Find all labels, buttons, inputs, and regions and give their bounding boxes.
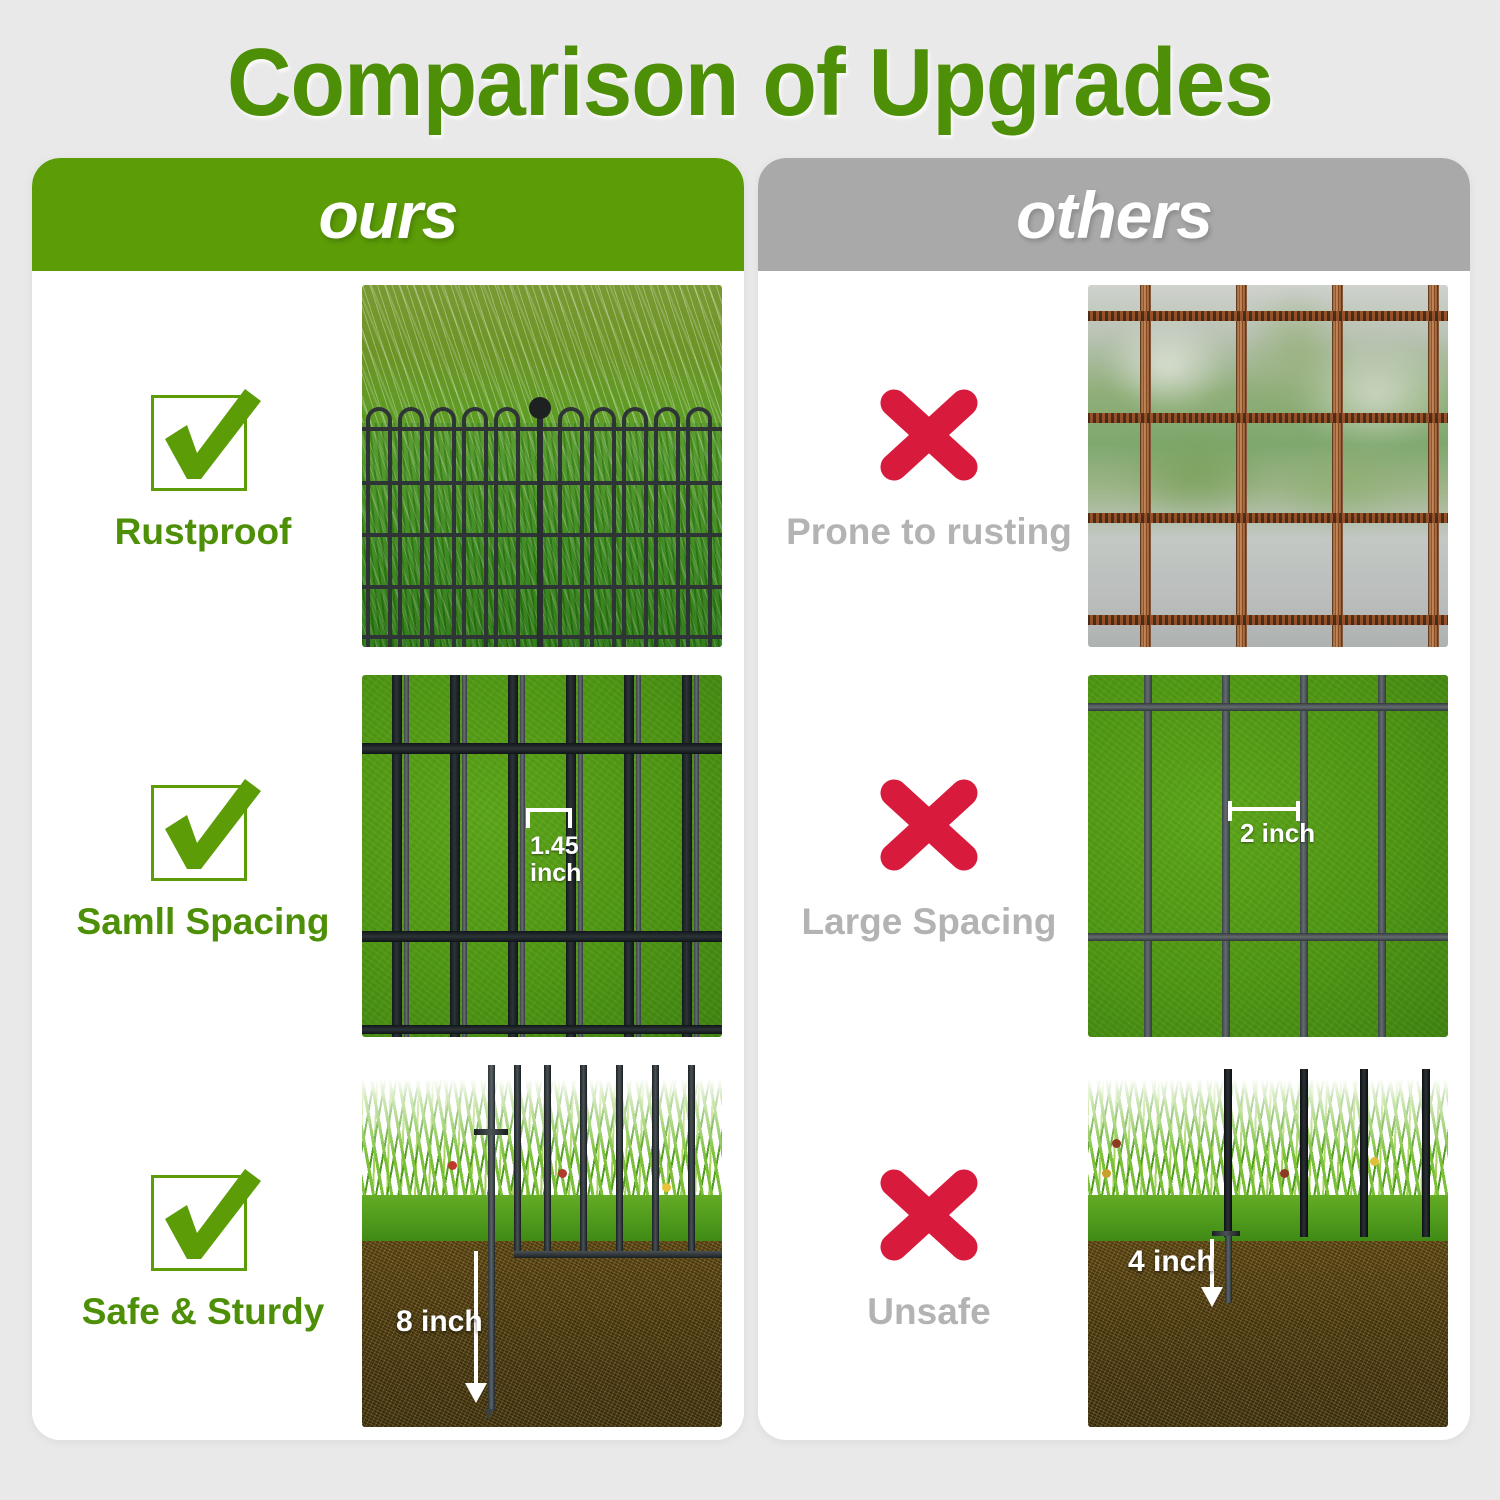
dimension-label-2-inch: 2 inch: [1240, 819, 1315, 847]
ours-label-sturdy: Safe & Sturdy: [82, 1291, 325, 1333]
comparison-infographic: Comparison of Upgrades ours Rustproof: [0, 0, 1500, 1500]
others-feature-spacing: Large Spacing: [770, 769, 1088, 943]
post-ball-icon: [529, 397, 551, 419]
others-label-spacing: Large Spacing: [802, 901, 1057, 943]
ours-row-rustproof: Rustproof: [32, 271, 744, 661]
page-title: Comparison of Upgrades: [53, 28, 1448, 138]
ours-row-spacing: Samll Spacing: [32, 661, 744, 1051]
others-panel: others Prone to rusting: [758, 158, 1470, 1440]
ours-row-sturdy: Safe & Sturdy: [32, 1051, 744, 1440]
rusty-mesh-photo: [1088, 285, 1448, 647]
wide-spacing-fence-photo: 2 inch: [1088, 675, 1448, 1037]
depth-arrow-head: [1201, 1287, 1223, 1307]
shallow-stake-soil-diagram: 4 inch: [1088, 1065, 1448, 1427]
ours-panel-header: ours: [32, 158, 744, 271]
others-label-rusting: Prone to rusting: [786, 511, 1072, 553]
others-panel-body: Prone to rusting: [758, 271, 1470, 1440]
ground-stake: [488, 1065, 495, 1411]
check-icon: [143, 1159, 263, 1271]
fence-post: [537, 417, 543, 647]
others-row-unsafe: Unsafe: [758, 1051, 1470, 1440]
dimension-label-1-45-inch: 1.45 inch: [530, 833, 581, 887]
ours-feature-rustproof: Rustproof: [44, 379, 362, 553]
depth-label-4-inch: 4 inch: [1128, 1245, 1215, 1279]
check-icon: [143, 379, 263, 491]
ours-label-spacing: Samll Spacing: [77, 901, 330, 943]
ours-label-rustproof: Rustproof: [115, 511, 292, 553]
others-row-rusting: Prone to rusting: [758, 271, 1470, 661]
narrow-spacing-fence-photo: 1.45 inch: [362, 675, 722, 1037]
check-icon: [143, 769, 263, 881]
ground-stake: [1225, 1233, 1232, 1303]
ours-feature-spacing: Samll Spacing: [44, 769, 362, 943]
others-feature-unsafe: Unsafe: [770, 1159, 1088, 1333]
deep-stake-soil-diagram: 8 inch: [362, 1065, 722, 1427]
x-icon: [869, 379, 989, 491]
depth-label-8-inch: 8 inch: [396, 1305, 483, 1339]
others-panel-header: others: [758, 158, 1470, 271]
others-row-spacing: Large Spacing 2 inch: [758, 661, 1470, 1051]
ours-header-label: ours: [318, 177, 457, 253]
ours-panel-body: Rustproof: [32, 271, 744, 1440]
others-label-unsafe: Unsafe: [867, 1291, 990, 1333]
x-icon: [869, 1159, 989, 1271]
others-header-label: others: [1016, 177, 1212, 253]
others-feature-rusting: Prone to rusting: [770, 379, 1088, 553]
ours-panel: ours Rustproof: [32, 158, 744, 1440]
rainproof-fence-photo: [362, 285, 722, 647]
ours-feature-sturdy: Safe & Sturdy: [44, 1159, 362, 1333]
x-icon: [869, 769, 989, 881]
depth-arrow-head: [465, 1383, 487, 1403]
